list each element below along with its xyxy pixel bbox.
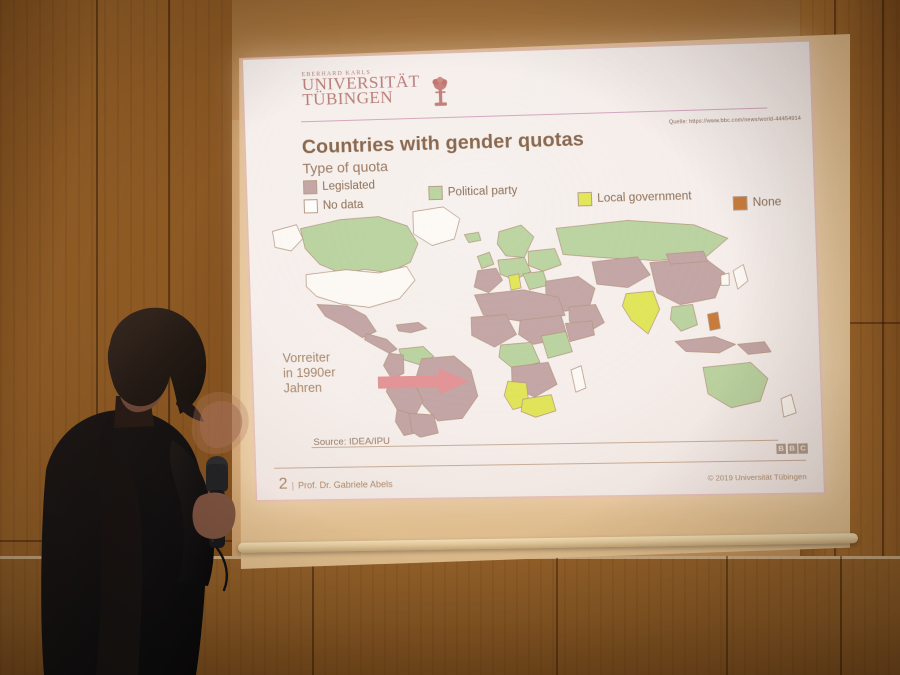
presenter-hair xyxy=(108,308,206,414)
bbc-letter-1: B xyxy=(776,444,786,454)
region-mexico xyxy=(317,303,376,338)
region-italy xyxy=(508,274,521,290)
region-australia xyxy=(703,362,769,408)
presentation-slide: EBERHARD KARLS UNIVERSITÄT TÜBINGEN Quel… xyxy=(243,42,824,500)
region-iceland xyxy=(464,232,481,242)
region-horn-of-africa xyxy=(565,321,594,342)
presenter-svg xyxy=(40,300,270,675)
footer-copyright: © 2019 Universität Tübingen xyxy=(707,472,806,483)
slide-title: Countries with gender quotas xyxy=(302,128,585,159)
presenter-silhouette xyxy=(40,300,270,675)
slide-rule-footer xyxy=(274,460,806,469)
region-alaska xyxy=(272,225,303,252)
region-madagascar xyxy=(571,366,586,393)
region-southeast-asia xyxy=(670,304,698,331)
world-map-svg xyxy=(266,196,805,440)
region-usa xyxy=(306,266,416,309)
legend-swatch-political-party xyxy=(428,186,443,200)
legend-label-political-party: Political party xyxy=(448,185,518,199)
tree-emblem-icon xyxy=(431,77,450,108)
bbc-letter-3: C xyxy=(798,443,808,453)
legend-item-legislated: Legislated xyxy=(303,178,375,194)
footer-author: Prof. Dr. Gabriele Abels xyxy=(298,479,393,490)
slide-subtitle: Type of quota xyxy=(302,158,388,176)
region-france-iberia xyxy=(474,268,503,293)
lecture-hall-photo: EBERHARD KARLS UNIVERSITÄT TÜBINGEN Quel… xyxy=(0,0,900,675)
world-choropleth-map xyxy=(266,196,805,440)
region-china xyxy=(650,257,726,306)
region-india xyxy=(622,291,661,334)
region-uk-ireland xyxy=(477,252,494,269)
region-new-guinea xyxy=(737,342,771,355)
region-greenland xyxy=(413,206,461,245)
region-balkans xyxy=(523,271,548,290)
right-arrow-icon xyxy=(378,368,470,396)
slide-footer-left: 2 | Prof. Dr. Gabriele Abels xyxy=(278,474,393,494)
legend-label-legislated: Legislated xyxy=(322,179,375,192)
legend-item-political-party: Political party xyxy=(428,184,517,200)
presenter-gesture-blur xyxy=(192,392,249,454)
region-eastern-europe xyxy=(528,248,561,271)
region-philippines xyxy=(707,312,720,331)
footer-separator: | xyxy=(291,480,294,490)
region-central-asia xyxy=(592,257,651,289)
region-new-zealand xyxy=(781,394,796,417)
region-indonesia xyxy=(675,336,736,354)
projected-slide-area: EBERHARD KARLS UNIVERSITÄT TÜBINGEN Quel… xyxy=(243,42,824,500)
presenter-hand-grip xyxy=(193,493,236,539)
region-korea xyxy=(721,273,730,285)
bbc-logo: B B C xyxy=(776,443,808,454)
slide-number: 2 xyxy=(278,476,287,494)
bbc-letter-2: B xyxy=(787,444,797,454)
region-japan xyxy=(733,264,748,289)
university-logo: EBERHARD KARLS UNIVERSITÄT TÜBINGEN xyxy=(301,66,484,120)
region-east-africa xyxy=(541,331,573,358)
legend-swatch-legislated xyxy=(303,180,318,194)
source-url-text: Quelle: https://www.bbc.com/news/world-4… xyxy=(594,116,802,128)
region-canada xyxy=(300,216,419,275)
region-caribbean xyxy=(396,322,427,333)
